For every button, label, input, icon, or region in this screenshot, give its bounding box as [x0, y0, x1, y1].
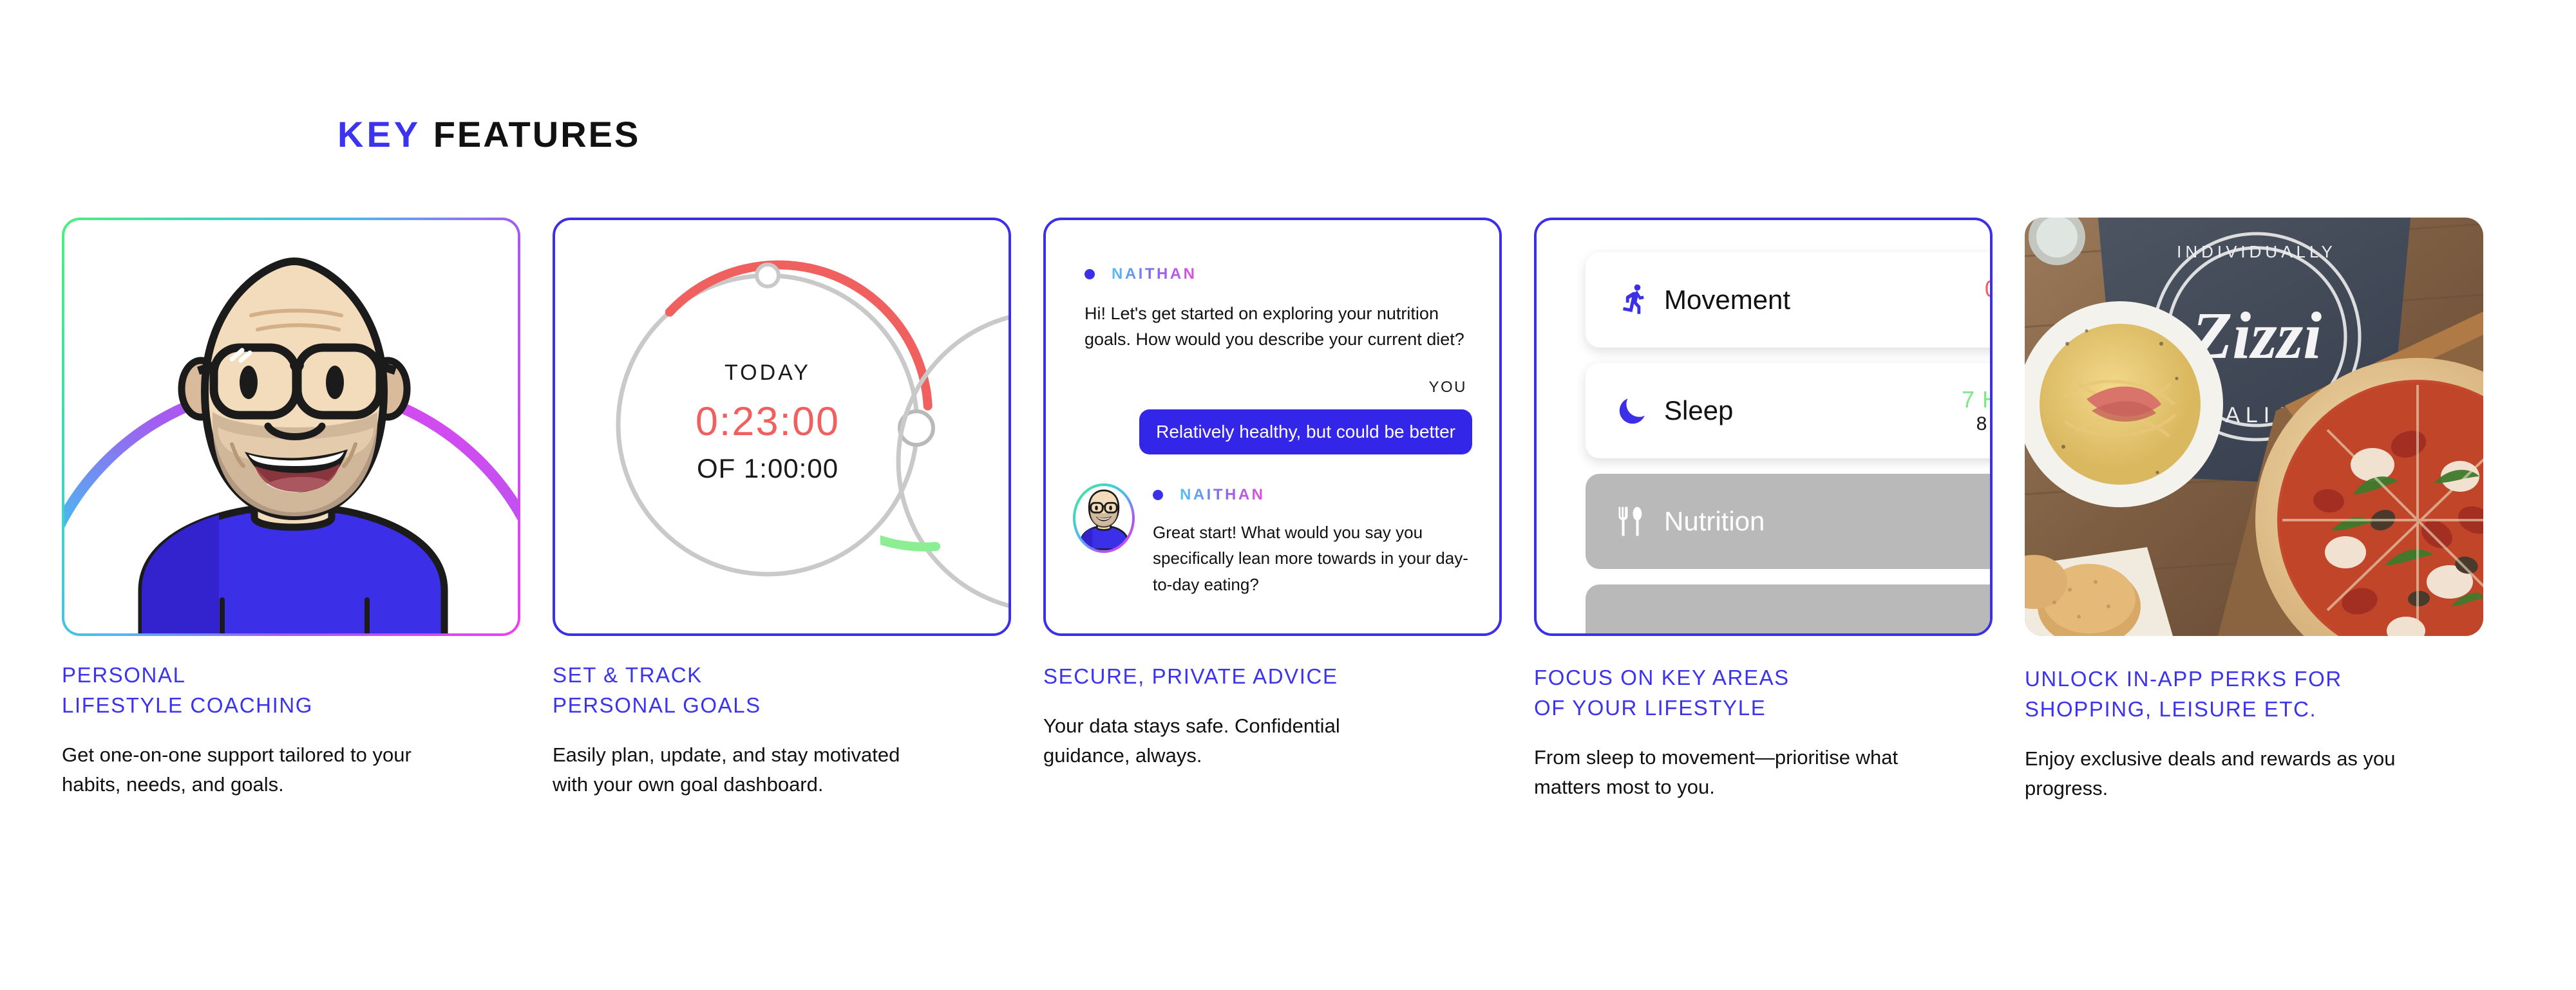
page-title-rest: FEATURES — [421, 114, 640, 154]
area-row-sleep[interactable]: Sleep 7 HOUR 8 HOUR — [1586, 363, 1993, 458]
avatar — [1073, 483, 1135, 553]
avatar-illustration-media — [62, 218, 520, 636]
page-title: KEY FEATURES — [337, 113, 640, 155]
chat-bot-message-block: NAITHAN Great start! What would you say … — [1073, 483, 1472, 597]
feature-card-personal-lifestyle-coaching[interactable]: PERSONAL LIFESTYLE COACHING Get one-on-o… — [62, 218, 520, 636]
goal-ring-target: OF 1:00:00 — [697, 453, 838, 483]
goal-rings-media: TODAY 0:23:00 OF 1:00:00 TU 0:5 OF — [553, 218, 1011, 636]
chat-bot-message: Great start! What would you say you spec… — [1153, 519, 1472, 597]
area-values: 7 HOUR 8 HOUR — [1962, 386, 1993, 435]
feature-body: Easily plan, update, and stay motivated … — [553, 740, 1029, 800]
goal-ring-label: TODAY — [724, 360, 811, 385]
chat-bot-message-body: NAITHAN Great start! What would you say … — [1153, 483, 1472, 597]
feature-title: FOCUS ON KEY AREAS OF YOUR LIFESTYLE — [1534, 663, 2011, 724]
feature-card-focus-on-key-areas[interactable]: Movement 0:23:0 1:00:0 Sleep — [1534, 218, 1993, 636]
area-row-nutrition[interactable]: Nutrition — [1586, 474, 1993, 569]
feature-body: Get one-on-one support tailored to your … — [62, 740, 538, 800]
area-label: Movement — [1664, 285, 1790, 315]
moon-icon — [1607, 393, 1656, 429]
chat-sender-name: NAITHAN — [1180, 486, 1265, 504]
cutlery-icon — [1607, 504, 1656, 539]
goal-ring-value: 0:23:00 — [696, 399, 840, 444]
feature-caption: SET & TRACK PERSONAL GOALS Easily plan, … — [553, 660, 1029, 800]
page-title-accent: KEY — [337, 114, 421, 154]
areas-list-media: Movement 0:23:0 1:00:0 Sleep — [1534, 218, 1993, 636]
status-dot-icon — [1153, 490, 1163, 500]
feature-card-grid: PERSONAL LIFESTYLE COACHING Get one-on-o… — [62, 218, 2458, 861]
area-label: Nutrition — [1664, 506, 1765, 537]
feature-body: Your data stays safe. Confidential guida… — [1043, 711, 1520, 771]
chat-conversation: NAITHAN Hi! Let's get started on explori… — [1046, 220, 1499, 633]
goal-ring-tuesday[interactable]: TU 0:5 OF — [880, 294, 1011, 629]
chat-user-row: Relatively healthy, but could be better — [1073, 409, 1472, 454]
area-primary-value: 7 HOUR — [1962, 386, 1993, 413]
running-icon — [1607, 281, 1656, 319]
chat-media: NAITHAN Hi! Let's get started on explori… — [1043, 218, 1502, 636]
area-primary-value: 0:23:0 — [1985, 276, 1993, 302]
avatar-image — [1075, 486, 1132, 550]
area-row-movement[interactable]: Movement 0:23:0 1:00:0 — [1586, 252, 1993, 348]
avatar-person-icon — [1075, 486, 1132, 550]
photo-logo-top: INDIVIDUALLY — [2177, 242, 2336, 261]
area-row-next[interactable] — [1586, 584, 1993, 636]
chat-sender-name: NAITHAN — [1112, 265, 1197, 283]
area-secondary-value: 8 HOUR — [1976, 413, 1993, 434]
feature-card-secure-private-advice[interactable]: NAITHAN Hi! Let's get started on explori… — [1043, 218, 1502, 636]
food-photo: INDIVIDUALLY Zizzi ITALIAN — [2025, 218, 2483, 636]
key-features-section: KEY FEATURES — [0, 0, 2576, 990]
feature-caption: SECURE, PRIVATE ADVICE Your data stays s… — [1043, 662, 1520, 771]
area-label: Sleep — [1664, 395, 1733, 426]
feature-card-unlock-in-app-perks[interactable]: INDIVIDUALLY Zizzi ITALIAN — [2025, 218, 2483, 636]
chat-sender-row: NAITHAN — [1153, 486, 1472, 504]
feature-title: SET & TRACK PERSONAL GOALS — [553, 660, 1029, 721]
feature-caption: PERSONAL LIFESTYLE COACHING Get one-on-o… — [62, 660, 538, 800]
chat-sender-row: NAITHAN — [1084, 265, 1472, 283]
area-values: 0:23:0 1:00:0 — [1985, 276, 1993, 324]
feature-body: Enjoy exclusive deals and rewards as you… — [2025, 744, 2501, 804]
lifestyle-areas-list: Movement 0:23:0 1:00:0 Sleep — [1537, 220, 1990, 633]
food-photo-media: INDIVIDUALLY Zizzi ITALIAN — [2025, 218, 2483, 636]
avatar-scene — [64, 220, 518, 633]
feature-title: PERSONAL LIFESTYLE COACHING — [62, 660, 538, 721]
feature-caption: UNLOCK IN-APP PERKS FOR SHOPPING, LEISUR… — [2025, 664, 2501, 804]
chat-user-message[interactable]: Relatively healthy, but could be better — [1139, 409, 1472, 454]
goal-rings: TODAY 0:23:00 OF 1:00:00 TU 0:5 OF — [555, 220, 1009, 633]
feature-title: UNLOCK IN-APP PERKS FOR SHOPPING, LEISUR… — [2025, 664, 2501, 725]
chat-you-label: YOU — [1073, 378, 1472, 397]
feature-title: SECURE, PRIVATE ADVICE — [1043, 662, 1520, 692]
status-dot-icon — [1084, 269, 1095, 279]
feature-caption: FOCUS ON KEY AREAS OF YOUR LIFESTYLE Fro… — [1534, 663, 2011, 803]
chat-bot-message: Hi! Let's get started on exploring your … — [1084, 301, 1472, 353]
feature-card-set-and-track-personal-goals[interactable]: TODAY 0:23:00 OF 1:00:00 TU 0:5 OF — [553, 218, 1011, 636]
avatar-person-icon — [122, 239, 464, 636]
feature-body: From sleep to movement—prioritise what m… — [1534, 743, 2011, 803]
